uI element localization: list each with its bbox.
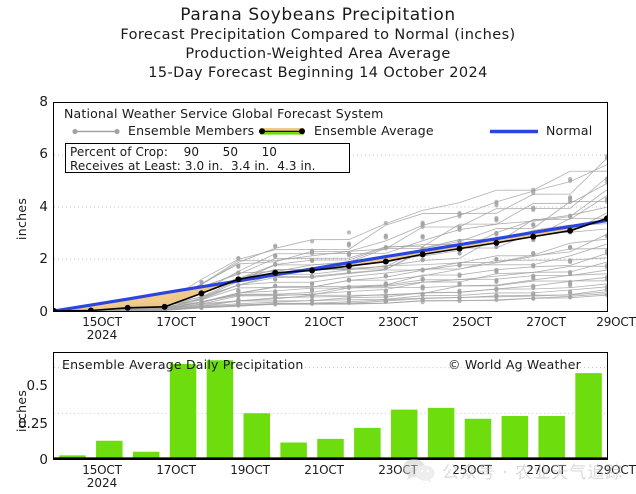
bottom-ytick-0: 0 [8,452,48,468]
bottom-xtick-0: 15OCT [67,463,137,477]
top-chart-legend: National Weather Service Global Forecast… [56,106,605,140]
legend-ensemble-average: Ensemble Average [256,123,434,138]
ensemble-average-swatch-icon [256,127,308,136]
top-xtick-year: 2024 [67,328,137,342]
top-xtick-6: 27OCT [511,315,581,329]
top-xtick-3: 21OCT [289,315,359,329]
top-xtick-5: 25OCT [437,315,507,329]
top-xtick-2: 19OCT [215,315,285,329]
top-ytick-4: 4 [8,199,48,215]
bottom-xtick-2: 19OCT [215,463,285,477]
bottom-ytick-05: 0.5 [8,378,48,394]
subtitle-3: 15-Day Forecast Beginning 14 October 202… [0,64,636,83]
receives-at-least-row: Receives at Least: 3.0 in. 3.4 in. 4.3 i… [70,159,345,173]
ensemble-members-swatch-icon [70,127,122,136]
legend-normal-label: Normal [546,123,592,138]
bottom-ytick-025: 0.25 [4,416,48,432]
bottom-xtick-5: 25OCT [437,463,507,477]
title-block: Parana Soybeans Precipitation Forecast P… [0,4,636,83]
bottom-xtick-1: 17OCT [141,463,211,477]
legend-source-label: National Weather Service Global Forecast… [56,106,605,121]
copyright-label: © World Ag Weather [448,357,581,372]
legend-ensemble-members: Ensemble Members [70,123,254,138]
top-xtick-4: 23OCT [363,315,433,329]
percent-of-crop-row: Percent of Crop: 90 50 10 [70,145,345,159]
legend-normal: Normal [488,123,592,138]
bottom-xtick-7: 29OCT [581,463,636,477]
top-ytick-2: 2 [8,251,48,267]
page-title: Parana Soybeans Precipitation [0,4,636,26]
top-ytick-0: 0 [8,304,48,320]
top-ytick-6: 6 [8,146,48,162]
chart-page: Parana Soybeans Precipitation Forecast P… [0,0,636,494]
top-xtick-7: 29OCT [581,315,636,329]
bottom-chart-title: Ensemble Average Daily Precipitation [62,357,304,372]
legend-ensemble-average-label: Ensemble Average [314,123,434,138]
bottom-xtick-3: 21OCT [289,463,359,477]
normal-swatch-icon [488,127,540,136]
subtitle-1: Forecast Precipitation Compared to Norma… [0,26,636,45]
bottom-xtick-6: 27OCT [511,463,581,477]
percent-of-crop-box: Percent of Crop: 90 50 10 Receives at Le… [65,143,350,173]
bottom-xtick-4: 23OCT [363,463,433,477]
top-xtick-0: 15OCT [67,315,137,329]
top-xtick-1: 17OCT [141,315,211,329]
subtitle-2: Production-Weighted Area Average [0,45,636,64]
bottom-xtick-year: 2024 [67,476,137,490]
legend-ensemble-members-label: Ensemble Members [128,123,254,138]
top-ytick-8: 8 [8,94,48,110]
